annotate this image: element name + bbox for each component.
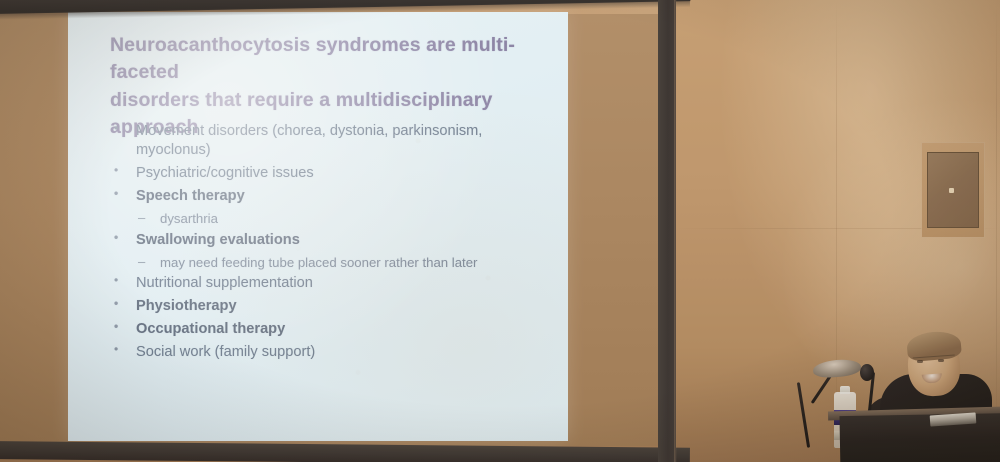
sub-bullet-item: may need feeding tube placed sooner rath… bbox=[106, 254, 546, 271]
lecture-room-photo: Neuroacanthocytosis syndromes are multi-… bbox=[0, 0, 1000, 462]
desk-lamp-icon bbox=[797, 382, 810, 448]
slide-title-line-1: Neuroacanthocytosis syndromes are multi-… bbox=[110, 32, 540, 87]
screen-right-bar-highlight bbox=[674, 0, 677, 462]
sub-bullet-item: dysarthria bbox=[106, 210, 546, 227]
podium-area bbox=[780, 330, 1000, 462]
speaker-eye bbox=[917, 360, 923, 363]
bullet-item: Psychiatric/cognitive issues bbox=[106, 164, 546, 183]
projected-slide: Neuroacanthocytosis syndromes are multi-… bbox=[68, 12, 568, 441]
wall-panel-indicator bbox=[949, 188, 954, 193]
bullet-item: Swallowing evaluations bbox=[106, 231, 546, 250]
desk-lamp-arm bbox=[811, 374, 832, 404]
bullet-item: Nutritional supplementation bbox=[106, 274, 546, 293]
microphone-icon bbox=[860, 364, 874, 381]
bullet-item: Physiotherapy bbox=[106, 297, 546, 316]
bullet-item: Movement disorders (chorea, dystonia, pa… bbox=[106, 122, 546, 161]
slide-bullet-list: Movement disorders (chorea, dystonia, pa… bbox=[106, 122, 546, 366]
desk-lamp-shade bbox=[812, 358, 861, 379]
bullet-item: Speech therapy bbox=[106, 187, 546, 206]
bullet-item: Occupational therapy bbox=[106, 320, 546, 339]
bullet-item: Social work (family support) bbox=[106, 343, 546, 362]
speaker-eye bbox=[938, 359, 944, 362]
